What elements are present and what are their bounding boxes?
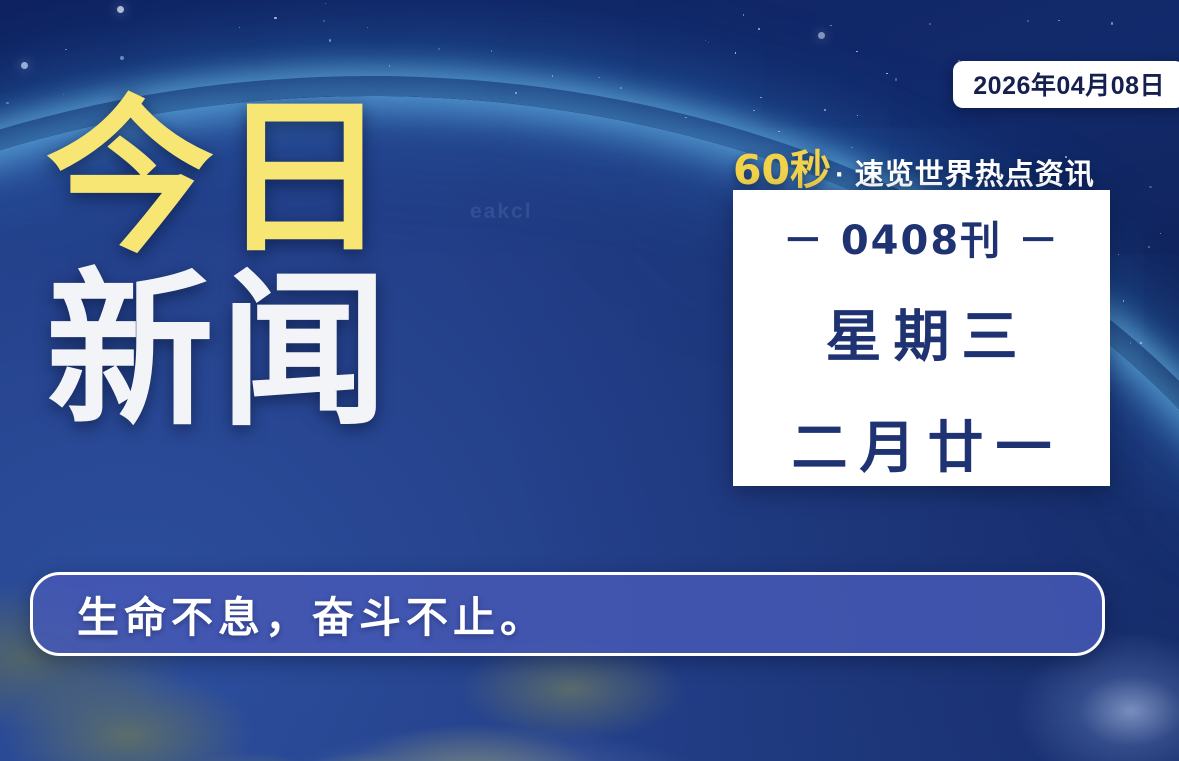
lunar-date-label: 二月廿一 (780, 403, 1064, 484)
tagline-subtitle: · 速览世界热点资讯 (835, 159, 1095, 191)
quote-banner: 生命不息，奋斗不止。 (30, 572, 1105, 656)
page-title: 今日 新闻 (46, 96, 394, 433)
title-line-today: 今日 (46, 96, 394, 261)
title-line-news: 新闻 (46, 269, 394, 434)
issue-number: － 0408刊 － (783, 208, 1060, 266)
weekday-label: 星期三 (814, 292, 1030, 373)
tagline-seconds: 60秒 (733, 146, 831, 194)
info-card: － 0408刊 － 星期三 二月廿一 (733, 190, 1110, 486)
tagline: 60秒· 速览世界热点资讯 (733, 136, 1123, 196)
quote-text: 生命不息，奋斗不止。 (77, 584, 547, 645)
date-badge: 2026年04月08日 (953, 61, 1179, 108)
watermark-text: eakcl (470, 200, 533, 224)
news-poster: eakcl 2026年04月08日 今日 新闻 60秒· 速览世界热点资讯 － … (0, 0, 1179, 761)
